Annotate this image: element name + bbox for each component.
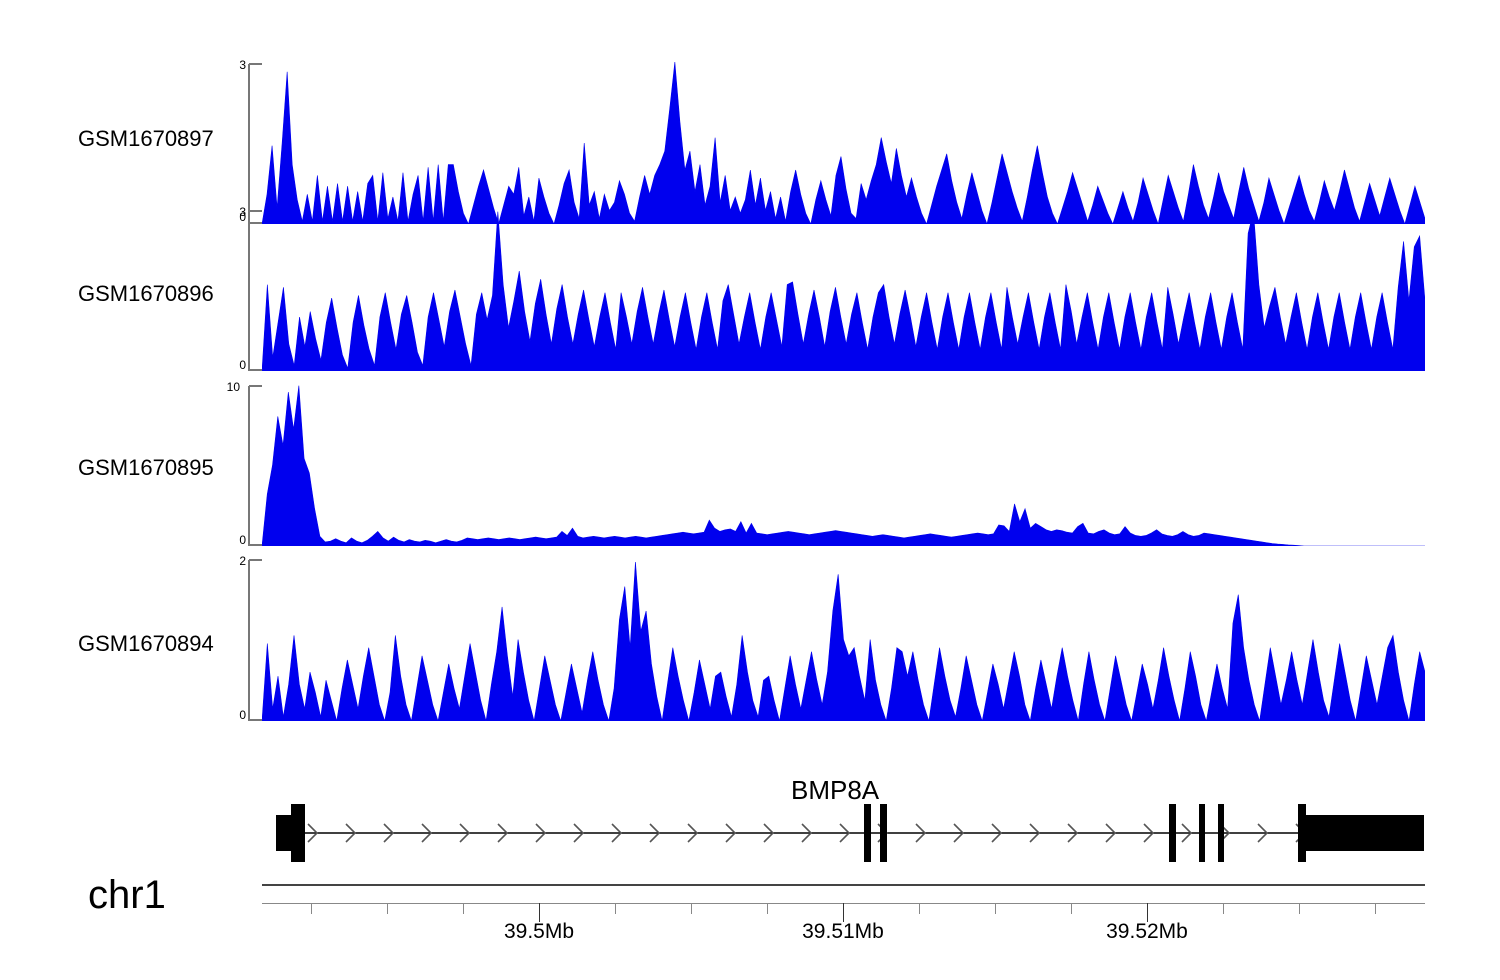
coverage-track-1: GSM1670897 3 0	[0, 28, 1500, 198]
coverage-track-4: GSM1670894 2 0	[0, 551, 1500, 723]
axis-minor-tick	[615, 903, 616, 914]
coverage-track-2: GSM1670896 3 0	[0, 203, 1500, 373]
gene-model-track[interactable]	[262, 795, 1442, 871]
axis-minor-tick	[1375, 903, 1376, 914]
axis-tick-label: 39.5Mb	[504, 920, 574, 944]
track-2-ymax-label: 3	[212, 205, 246, 219]
axis-minor-tick	[767, 903, 768, 914]
axis-minor-tick	[919, 903, 920, 914]
track-4-ymin-label: 0	[212, 708, 246, 722]
axis-minor-tick	[691, 903, 692, 914]
track-1-plot	[262, 62, 1425, 224]
axis-minor-tick	[387, 903, 388, 914]
coverage-track-3: GSM1670895 10 0	[0, 377, 1500, 547]
track-3-ymax-label: 10	[206, 380, 240, 394]
track-4-ymax-label: 2	[212, 554, 246, 568]
genome-browser-canvas: GSM1670897 3 0 GSM1670896 3 0 GSM1670895	[0, 0, 1500, 980]
track-3-plot	[262, 384, 1425, 546]
track-1-ymax-label: 3	[212, 58, 246, 72]
axis-minor-tick	[463, 903, 464, 914]
axis-minor-tick	[1071, 903, 1072, 914]
track-label-gsm1670894: GSM1670894	[78, 631, 214, 657]
axis-minor-tick	[1299, 903, 1300, 914]
track-2-plot	[262, 209, 1425, 371]
track-label-gsm1670896: GSM1670896	[78, 281, 214, 307]
track-2-ymin-label: 0	[212, 358, 246, 372]
axis-tick-label: 39.52Mb	[1106, 920, 1188, 944]
track-label-gsm1670895: GSM1670895	[78, 455, 214, 481]
track-3-ymin-label: 0	[212, 533, 246, 547]
track-4-plot	[262, 558, 1425, 721]
axis-tick-label: 39.51Mb	[802, 920, 884, 944]
axis-minor-tick	[1223, 903, 1224, 914]
ideogram-rule	[262, 884, 1425, 886]
track-label-gsm1670897: GSM1670897	[78, 126, 214, 152]
axis-minor-tick	[995, 903, 996, 914]
axis-minor-tick	[311, 903, 312, 914]
chromosome-label: chr1	[88, 873, 166, 918]
